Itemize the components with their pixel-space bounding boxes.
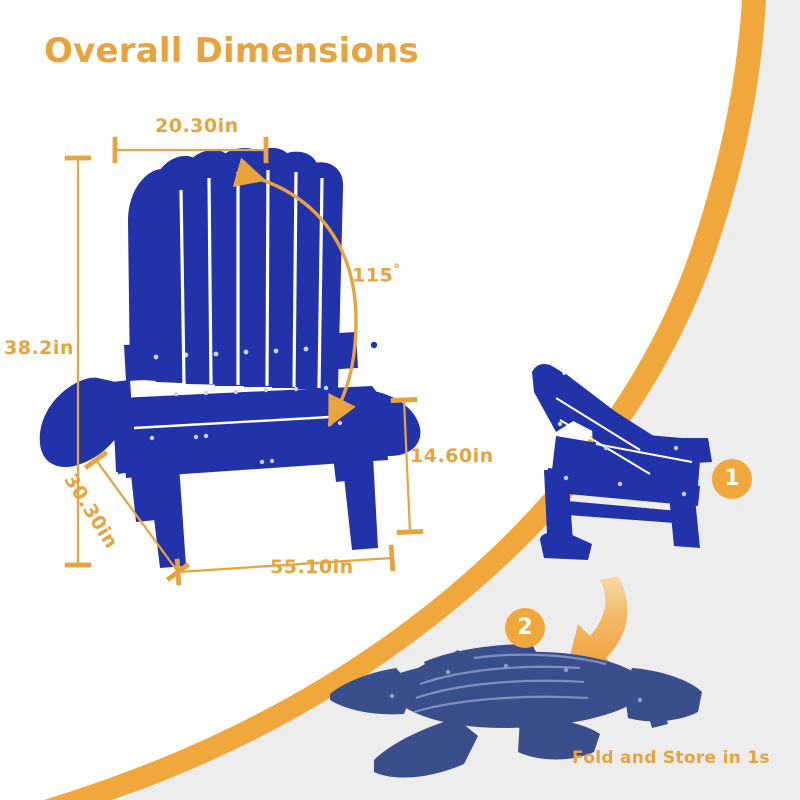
degree-symbol: ° (393, 262, 401, 278)
chair-leg-front-right (340, 438, 378, 550)
dimension-label-length: 55.10in (270, 556, 354, 578)
dimension-label-seat-height: 14.60in (410, 445, 494, 467)
dimension-label-width: 20.30in (155, 115, 239, 137)
page-title: Overall Dimensions (44, 31, 419, 71)
footer-note: Fold and Store in 1s (572, 748, 770, 768)
step-badge-1: 1 (712, 459, 752, 499)
illustration-layer (0, 0, 800, 800)
step-badge-2: 2 (505, 608, 545, 648)
chair-hardware-dot (371, 342, 377, 348)
dimension-label-height: 38.2in (4, 337, 74, 359)
dimension-label-angle: 115° (352, 262, 401, 286)
flat-front-leg (374, 718, 478, 778)
chair-folded-side-illustration (532, 364, 712, 560)
folded-stretcher (554, 500, 690, 524)
chair-side-plank (112, 380, 136, 472)
dimension-infographic: Overall Dimensions 20.30in 38.2in 115° 1… (0, 0, 800, 800)
angle-value: 115 (352, 264, 393, 286)
folded-foot (540, 532, 592, 560)
